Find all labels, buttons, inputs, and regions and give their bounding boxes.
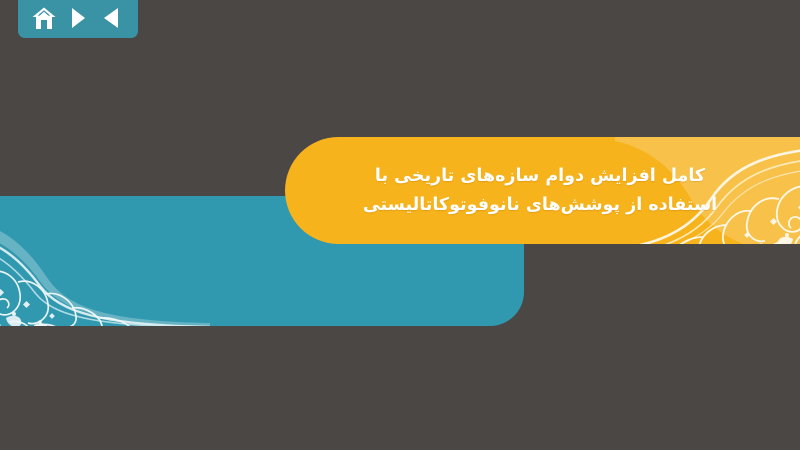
forward-button[interactable] (64, 4, 92, 32)
triangle-right-icon (69, 7, 87, 29)
slide-canvas: کامل افزایش دوام سازه‌های تاریخی با استف… (0, 0, 800, 450)
triangle-left-icon (102, 7, 122, 29)
navigation-bar (18, 0, 138, 38)
page-title: کامل افزایش دوام سازه‌های تاریخی با استف… (323, 162, 800, 219)
title-banner: کامل افزایش دوام سازه‌های تاریخی با استف… (285, 137, 800, 244)
home-button[interactable] (30, 4, 58, 32)
back-button[interactable] (98, 4, 126, 32)
arabesque-corner-ornament (0, 196, 210, 326)
title-line-2: استفاده از پوشش‌های نانوفوتوکاتالیستی (363, 191, 717, 219)
title-line-1: کامل افزایش دوام سازه‌های تاریخی با (363, 162, 717, 190)
home-icon (32, 7, 56, 30)
